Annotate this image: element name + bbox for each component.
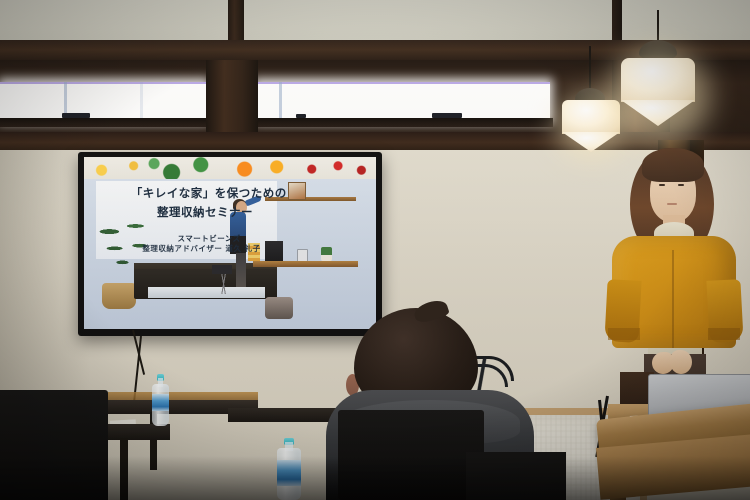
chair-center[interactable] xyxy=(338,410,484,500)
photo-scene: 「キレイな家」を保つための 整理収納セミナー スマートビーンズ 整理収納アドバイ… xyxy=(0,0,750,500)
window-ledge-object-right xyxy=(432,113,462,118)
presenter-eye-right xyxy=(678,184,684,186)
slide-small-plant xyxy=(321,247,332,261)
presenter-eye-left xyxy=(659,184,665,186)
presenter-jacket-seam xyxy=(672,250,674,348)
lamp-shade-right xyxy=(621,58,695,102)
window-sill-left xyxy=(0,118,210,127)
bottle-label xyxy=(152,394,169,411)
slide-woman-legs xyxy=(236,253,246,287)
slide-coffee-table xyxy=(148,287,265,298)
slide-title-line-1: 「キレイな家」を保つための xyxy=(131,185,287,201)
presenter-cuff-left xyxy=(608,328,640,340)
chair-right[interactable] xyxy=(466,452,566,500)
attendee-table-left-leg xyxy=(120,438,128,500)
presenter-figure xyxy=(598,140,748,410)
slide-desk-shelf xyxy=(253,261,358,267)
window-latch xyxy=(296,114,306,118)
clerestory-window-left xyxy=(0,82,206,120)
slide-floor-bag xyxy=(265,297,293,319)
lamp-cord-right xyxy=(657,10,659,44)
lamp-cord-left xyxy=(589,46,591,92)
bottle-label xyxy=(277,460,301,486)
chair-left-seat[interactable] xyxy=(0,470,108,500)
presenter-mouth xyxy=(667,203,677,205)
slide-floral-banner xyxy=(84,157,376,179)
presenter-cuff-right xyxy=(708,328,740,340)
water-bottle-front[interactable] xyxy=(277,438,301,500)
wood-post-center xyxy=(206,60,258,138)
slide-file-box xyxy=(265,241,283,261)
presenter-hand-right xyxy=(670,350,692,374)
tv-screen[interactable]: 「キレイな家」を保つための 整理収納セミナー スマートビーンズ 整理収納アドバイ… xyxy=(84,157,376,329)
slide-plant-pot xyxy=(102,283,136,309)
presenter-hair-front xyxy=(642,148,704,182)
window-sill-right xyxy=(253,118,553,127)
slide-presenter-credit: 整理収納アドバイザー 道久 礼子 xyxy=(142,243,260,254)
slide-stool-legs xyxy=(215,274,233,294)
slide-book xyxy=(288,182,306,200)
table-wood-edge xyxy=(108,392,258,400)
window-ledge-object-left xyxy=(62,113,90,118)
presentation-slide: 「キレイな家」を保つための 整理収納セミナー スマートビーンズ 整理収納アドバイ… xyxy=(84,157,376,329)
water-bottle-back[interactable] xyxy=(152,374,169,426)
slide-title-line-2: 整理収納セミナー xyxy=(157,204,253,220)
